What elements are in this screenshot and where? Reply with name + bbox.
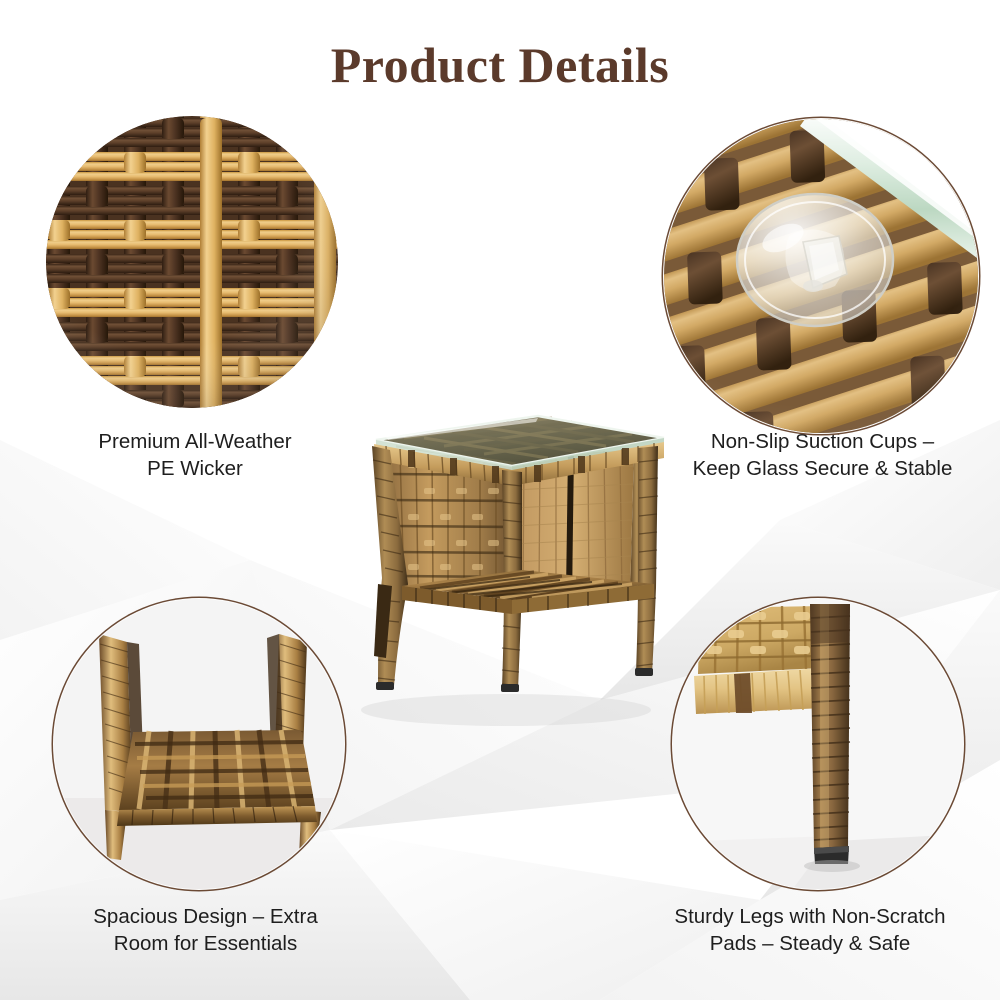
lower-shelf-closeup-icon xyxy=(53,598,345,890)
wicker-weave-closeup-icon xyxy=(46,116,338,408)
product-image-wicker-side-table xyxy=(316,338,686,743)
product-details-infographic: Product Details xyxy=(0,0,1000,1000)
suction-cup-closeup-icon xyxy=(663,118,979,434)
callout-caption-spacious-shelf: Spacious Design – Extra Room for Essenti… xyxy=(28,903,383,958)
callout-caption-suction-cups: Non-Slip Suction Cups – Keep Glass Secur… xyxy=(645,428,1000,483)
page-title: Product Details xyxy=(0,36,1000,94)
callout-caption-sturdy-legs: Sturdy Legs with Non-Scratch Pads – Stea… xyxy=(620,903,1000,958)
table-leg-closeup-icon xyxy=(672,598,964,890)
right-rear-leg xyxy=(635,446,658,676)
